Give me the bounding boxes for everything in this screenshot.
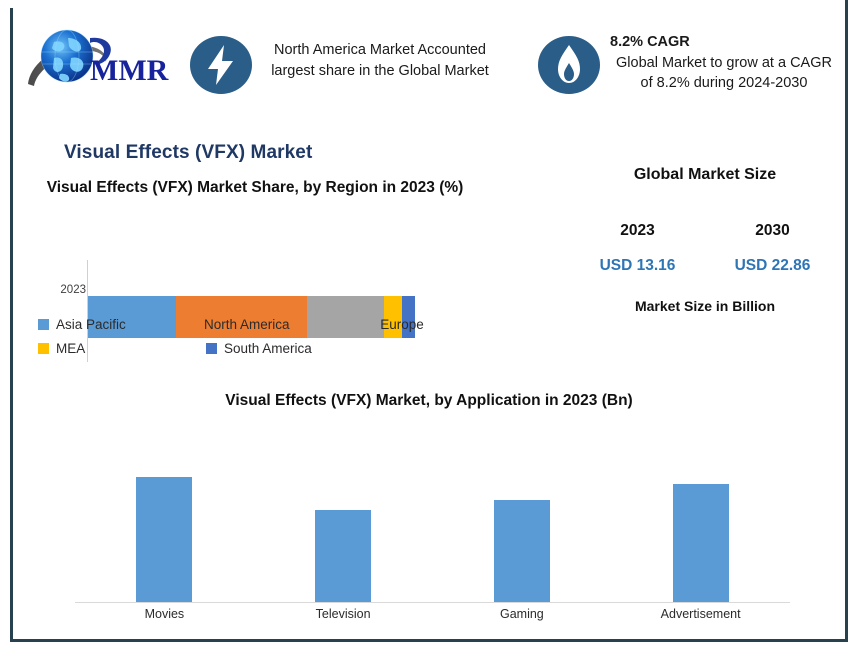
header-cagr-body: Global Market to grow at a CAGR of 8.2% …	[616, 55, 832, 92]
application-column	[433, 454, 612, 602]
application-bar-gaming	[494, 500, 550, 602]
legend-item-south-america[interactable]: South America	[206, 341, 406, 356]
flame-icon	[538, 34, 600, 96]
legend-swatch-europe	[362, 319, 373, 330]
application-chart-baseline	[75, 602, 790, 603]
mmr-logo-text: MMR	[90, 54, 169, 87]
application-category-labels: MoviesTelevisionGamingAdvertisement	[75, 607, 790, 621]
application-bar-television	[315, 510, 371, 602]
application-bar-advertisement	[673, 484, 729, 602]
infographic-page: MMR North America Market Accounted large…	[0, 0, 860, 657]
header: MMR North America Market Accounted large…	[14, 10, 844, 122]
header-north-america-text: North America Market Accounted largest s…	[262, 40, 498, 81]
application-bar-chart: Visual Effects (VFX) Market, by Applicat…	[14, 392, 844, 602]
application-column	[75, 454, 254, 602]
application-column	[611, 454, 790, 602]
legend-item-mea[interactable]: MEA	[38, 341, 206, 356]
market-size-year-start: 2023	[570, 222, 705, 240]
market-size-value-end: USD 22.86	[705, 257, 840, 275]
frame-border-bottom	[10, 639, 848, 642]
application-bars	[75, 454, 790, 602]
application-label-advertisement: Advertisement	[611, 607, 790, 621]
application-label-television: Television	[254, 607, 433, 621]
application-bar-movies	[136, 477, 192, 602]
legend-label-asia-pacific: Asia Pacific	[56, 317, 126, 332]
page-title: Visual Effects (VFX) Market	[64, 142, 312, 164]
global-market-size-values: USD 13.16 USD 22.86	[570, 257, 840, 275]
market-size-year-end: 2030	[705, 222, 840, 240]
application-label-movies: Movies	[75, 607, 254, 621]
region-chart-title: Visual Effects (VFX) Market Share, by Re…	[20, 172, 490, 199]
global-market-size-panel: Global Market Size 2023 2030 USD 13.16 U…	[570, 166, 840, 326]
frame-border-right	[845, 0, 848, 642]
region-chart-legend: Asia Pacific North America Europe MEA So…	[38, 312, 468, 360]
frame-border-left	[10, 8, 13, 642]
lightning-bolt-icon	[190, 34, 252, 96]
legend-swatch-mea	[38, 343, 49, 354]
global-market-size-years: 2023 2030	[570, 222, 840, 240]
application-chart-title: Visual Effects (VFX) Market, by Applicat…	[14, 392, 844, 410]
legend-label-south-america: South America	[224, 341, 312, 356]
global-market-size-footer: Market Size in Billion	[570, 298, 840, 314]
header-cagr-headline: 8.2% CAGR	[610, 32, 838, 53]
global-market-size-title: Global Market Size	[570, 166, 840, 184]
legend-swatch-north-america	[186, 319, 197, 330]
application-label-gaming: Gaming	[433, 607, 612, 621]
legend-label-north-america: North America	[204, 317, 290, 332]
legend-item-asia-pacific[interactable]: Asia Pacific	[38, 317, 186, 332]
application-column	[254, 454, 433, 602]
legend-item-north-america[interactable]: North America	[186, 317, 362, 332]
legend-label-mea: MEA	[56, 341, 85, 356]
application-chart-plot: MoviesTelevisionGamingAdvertisement	[14, 424, 844, 572]
legend-swatch-south-america	[206, 343, 217, 354]
region-chart-category-label: 2023	[42, 284, 86, 296]
market-size-value-start: USD 13.16	[570, 257, 705, 275]
legend-item-europe[interactable]: Europe	[362, 317, 468, 332]
legend-label-europe: Europe	[380, 317, 424, 332]
legend-row-1: Asia Pacific North America Europe	[38, 312, 468, 336]
mmr-logo: MMR	[24, 22, 174, 100]
legend-swatch-asia-pacific	[38, 319, 49, 330]
header-cagr-text: 8.2% CAGR Global Market to grow at a CAG…	[610, 32, 838, 94]
legend-row-2: MEA South America	[38, 336, 468, 360]
